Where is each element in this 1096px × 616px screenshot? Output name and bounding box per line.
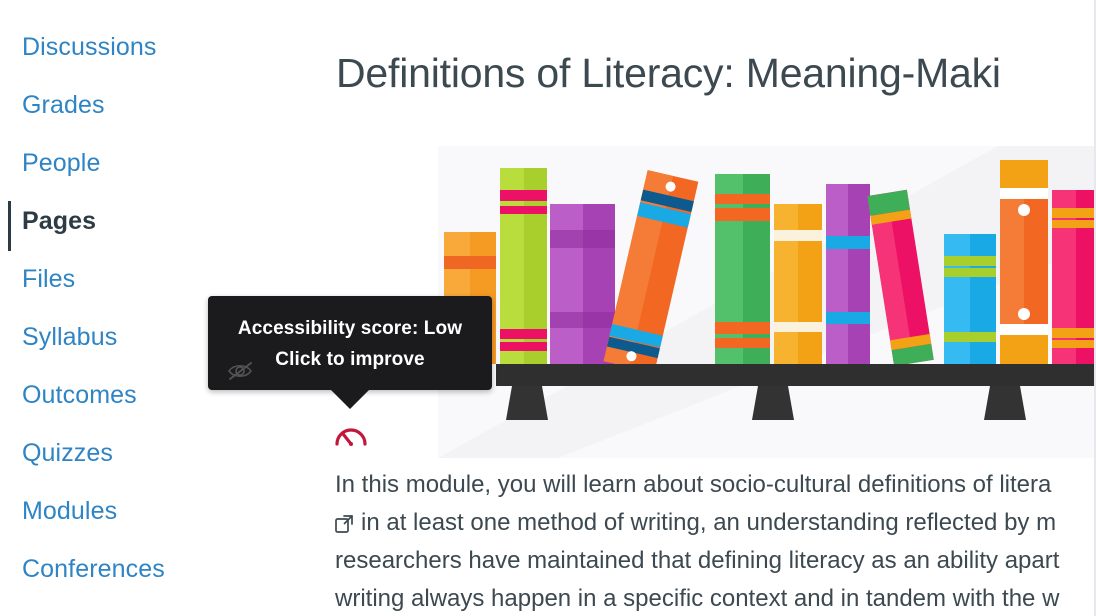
sidebar-item-grades[interactable]: Grades	[0, 76, 332, 134]
page-title: Definitions of Literacy: Meaning-Maki	[336, 44, 1001, 102]
body-line-3: researchers have maintained that definin…	[335, 542, 1096, 580]
accessibility-score-text: Accessibility score: Low	[208, 313, 492, 344]
accessibility-tooltip: Accessibility score: Low Click to improv…	[208, 296, 492, 390]
eye-off-icon	[226, 359, 256, 383]
bookshelf-banner-image	[438, 146, 1096, 458]
sidebar-item-pages[interactable]: Pages	[0, 192, 332, 250]
sidebar-item-discussions[interactable]: Discussions	[0, 18, 332, 76]
body-line-4: writing always happen in a specific cont…	[335, 580, 1096, 616]
bookshelf-illustration	[438, 146, 1096, 458]
sidebar-item-conferences[interactable]: Conferences	[0, 540, 332, 598]
body-line-2: in at least one method of writing, an un…	[361, 509, 1056, 536]
body-line-2-row: in at least one method of writing, an un…	[335, 504, 1096, 542]
tooltip-pointer-arrow	[330, 389, 370, 409]
page-body-text: In this module, you will learn about soc…	[335, 466, 1096, 616]
sidebar-item-collaborations[interactable]: Collaborations	[0, 598, 332, 616]
accessibility-gauge-icon[interactable]	[333, 420, 369, 450]
body-line-1: In this module, you will learn about soc…	[335, 466, 1096, 504]
sidebar-item-people[interactable]: People	[0, 134, 332, 192]
accessibility-tooltip-wrapper: Accessibility score: Low Click to improv…	[208, 296, 492, 390]
sidebar-item-quizzes[interactable]: Quizzes	[0, 424, 332, 482]
sidebar-item-modules[interactable]: Modules	[0, 482, 332, 540]
external-link-icon[interactable]	[335, 514, 354, 533]
canvas-course-page: Discussions Grades People Pages Files Sy…	[0, 0, 1096, 616]
